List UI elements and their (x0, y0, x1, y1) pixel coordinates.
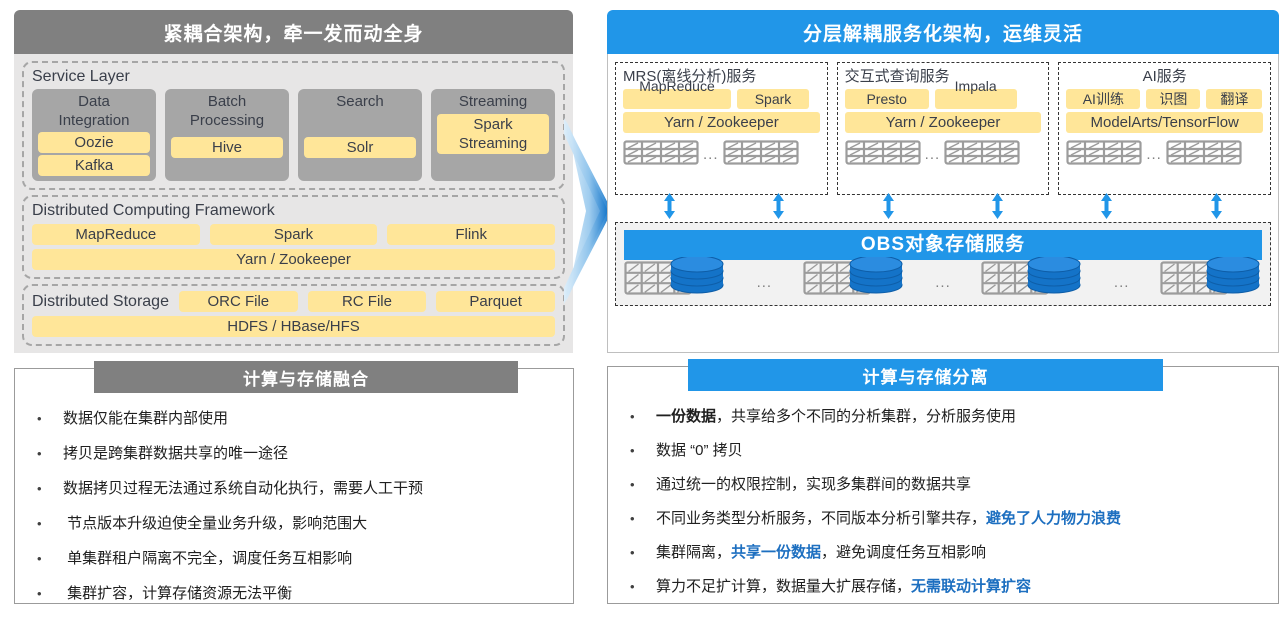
component-spark-streaming[interactable]: SparkStreaming (437, 114, 549, 154)
storage-node (981, 257, 1083, 300)
list-item: • 数据 “0” 拷贝 (630, 443, 1278, 459)
component-rc-file[interactable]: RC File (308, 291, 427, 312)
service-layer-label: Service Layer (32, 67, 555, 87)
legacy-architecture-body: Service Layer DataIntegration Oozie Kafk… (14, 54, 573, 353)
service-box-title: DataIntegration (38, 92, 150, 130)
component-yarn-zookeeper[interactable]: Yarn / Zookeeper (32, 249, 555, 270)
list-item: • 集群隔离，共享一份数据，避免调度任务互相影响 (630, 545, 1278, 561)
component-yarn-zookeeper[interactable]: Yarn / Zookeeper (845, 112, 1042, 133)
list-item: •拷贝是跨集群数据共享的唯一途径 (37, 446, 573, 462)
list-item: • 单集群租户隔离不完全，调度任务互相影响 (37, 551, 573, 567)
new-callout-title: 计算与存储分离 (688, 359, 1163, 391)
legacy-bullet-list: •数据仅能在集群内部使用 •拷贝是跨集群数据共享的唯一途径 •数据拷贝过程无法通… (15, 369, 573, 621)
double-arrow-icon (991, 193, 1004, 224)
component-image-recognition[interactable]: 识图 (1146, 89, 1200, 109)
service-box-title: BatchProcessing (171, 92, 283, 130)
list-item: • 集群扩容，计算存储资源无法平衡 (37, 586, 573, 602)
legacy-architecture-title: 紧耦合架构，牵一发而动全身 (14, 10, 573, 54)
storage-ellipsis: ... (905, 278, 982, 300)
double-arrow-icon (663, 193, 676, 224)
rack-row: ... (623, 140, 820, 170)
server-rack-icon (723, 140, 799, 170)
legacy-architecture-panel: 紧耦合架构，牵一发而动全身 Service Layer DataIntegrat… (14, 10, 573, 353)
database-icon (1204, 257, 1262, 300)
rack-ellipsis: ... (925, 150, 941, 160)
service-box-title: Search (304, 92, 416, 111)
storage-ellipsis: ... (1083, 278, 1160, 300)
service-layer-boxes: DataIntegration Oozie Kafka BatchProcess… (32, 89, 555, 181)
component-spark[interactable]: Spark (210, 224, 378, 245)
compute-layer-group: Distributed Computing Framework MapReduc… (22, 195, 565, 279)
bullet-dot: • (37, 516, 63, 532)
engine-row: AI训练 识图 翻译 (1066, 89, 1263, 109)
new-bullet-list: • 一份数据，共享给多个不同的分析集群，分析服务使用 • 数据 “0” 拷贝 •… (608, 367, 1278, 613)
list-item: • 一份数据，共享给多个不同的分析集群，分析服务使用 (630, 409, 1278, 425)
new-architecture-title: 分层解耦服务化架构，运维灵活 (607, 10, 1279, 54)
bullet-dot: • (630, 443, 656, 459)
server-rack-icon (623, 140, 699, 170)
component-impala[interactable]: Impala (935, 89, 1017, 109)
rack-ellipsis: ... (1146, 150, 1162, 160)
component-mapreduce[interactable]: MapReduce (623, 89, 731, 109)
service-layer-group: Service Layer DataIntegration Oozie Kafk… (22, 61, 565, 190)
callout-frame: 计算与存储分离 • 一份数据，共享给多个不同的分析集群，分析服务使用 • 数据 … (607, 366, 1279, 604)
server-rack-icon (845, 140, 921, 170)
double-arrow-icon (1100, 193, 1113, 224)
service-cards: MRS(离线分析)服务 MapReduce Spark Yarn / Zooke… (615, 62, 1271, 195)
component-solr[interactable]: Solr (304, 137, 416, 158)
storage-ellipsis: ... (726, 278, 803, 300)
bidirectional-arrows-band (615, 195, 1271, 221)
new-architecture-body: MRS(离线分析)服务 MapReduce Spark Yarn / Zooke… (607, 54, 1279, 353)
callout-frame: 计算与存储融合 •数据仅能在集群内部使用 •拷贝是跨集群数据共享的唯一途径 •数… (14, 368, 574, 604)
component-mapreduce[interactable]: MapReduce (32, 224, 200, 245)
storage-layer-label: Distributed Storage (32, 292, 169, 312)
engine-row: MapReduce Spark (623, 89, 820, 109)
double-arrow-icon (882, 193, 895, 224)
component-kafka[interactable]: Kafka (38, 155, 150, 176)
obs-service-bar[interactable]: OBS对象存储服务 (624, 230, 1262, 260)
component-parquet[interactable]: Parquet (436, 291, 555, 312)
component-translation[interactable]: 翻译 (1206, 89, 1262, 109)
component-yarn-zookeeper[interactable]: Yarn / Zookeeper (623, 112, 820, 133)
double-arrow-icon (1210, 193, 1223, 224)
component-presto[interactable]: Presto (845, 89, 929, 109)
obs-storage-nodes: ... (624, 262, 1262, 300)
component-orc-file[interactable]: ORC File (179, 291, 298, 312)
storage-format-row: Distributed Storage ORC File RC File Par… (32, 291, 555, 312)
bullet-dot: • (630, 511, 656, 527)
storage-node (1160, 257, 1262, 300)
server-rack-icon (1066, 140, 1142, 170)
bullet-dot: • (630, 579, 656, 595)
rack-row: ... (845, 140, 1042, 170)
component-oozie[interactable]: Oozie (38, 132, 150, 153)
service-box-search[interactable]: Search Solr (298, 89, 422, 181)
service-box-streaming[interactable]: Streaming SparkStreaming (431, 89, 555, 181)
component-hive[interactable]: Hive (171, 137, 283, 158)
bullet-dot: • (37, 446, 63, 462)
list-item: • 节点版本升级迫使全量业务升级，影响范围大 (37, 516, 573, 532)
bullet-dot: • (37, 411, 63, 427)
bullet-dot: • (630, 409, 656, 425)
list-item: • 通过统一的权限控制，实现多集群间的数据共享 (630, 477, 1278, 493)
obs-storage-zone: OBS对象存储服务 (615, 222, 1271, 306)
bullet-dot: • (630, 477, 656, 493)
bullet-dot: • (630, 545, 656, 561)
component-hdfs-hbase-hfs[interactable]: HDFS / HBase/HFS (32, 316, 555, 337)
arrow-slot (834, 195, 943, 221)
service-card-title: AI服务 (1066, 67, 1263, 87)
bullet-dot: • (37, 481, 63, 497)
database-icon (668, 257, 726, 300)
service-box-batch-processing[interactable]: BatchProcessing Hive (165, 89, 289, 181)
list-item: •数据仅能在集群内部使用 (37, 411, 573, 427)
list-item: •数据拷贝过程无法通过系统自动化执行，需要人工干预 (37, 481, 573, 497)
engine-row: Presto Impala (845, 89, 1042, 109)
legacy-drawbacks-callout: 计算与存储融合 •数据仅能在集群内部使用 •拷贝是跨集群数据共享的唯一途径 •数… (14, 368, 574, 604)
compute-layer-label: Distributed Computing Framework (32, 201, 555, 221)
legacy-callout-title: 计算与存储融合 (94, 361, 518, 393)
component-modelarts-tensorflow[interactable]: ModelArts/TensorFlow (1066, 112, 1263, 133)
service-card-ai[interactable]: AI服务 AI训练 识图 翻译 ModelArts/TensorFlow (1058, 62, 1271, 195)
rack-row: ... (1066, 140, 1263, 170)
bullet-dot: • (37, 586, 63, 602)
arrow-slot (615, 195, 724, 221)
storage-node (803, 257, 905, 300)
storage-node (624, 257, 726, 300)
component-ai-training[interactable]: AI训练 (1066, 89, 1140, 109)
double-arrow-icon (772, 193, 785, 224)
storage-layer-group: Distributed Storage ORC File RC File Par… (22, 284, 565, 346)
rack-ellipsis: ... (703, 150, 719, 160)
server-rack-icon (944, 140, 1020, 170)
new-benefits-callout: 计算与存储分离 • 一份数据，共享给多个不同的分析集群，分析服务使用 • 数据 … (607, 366, 1279, 604)
component-flink[interactable]: Flink (387, 224, 555, 245)
arrow-slot (1162, 195, 1271, 221)
list-item: • 不同业务类型分析服务，不同版本分析引擎共存，避免了人力物力浪费 (630, 511, 1278, 527)
list-item: • 算力不足扩计算，数据量大扩展存储，无需联动计算扩容 (630, 579, 1278, 595)
component-spark[interactable]: Spark (737, 89, 809, 109)
arrow-slot (943, 195, 1052, 221)
compute-engine-row: MapReduce Spark Flink (32, 224, 555, 245)
arrow-slot (1052, 195, 1161, 221)
service-box-title: Streaming (437, 92, 549, 111)
service-box-data-integration[interactable]: DataIntegration Oozie Kafka (32, 89, 156, 181)
new-architecture-panel: 分层解耦服务化架构，运维灵活 MRS(离线分析)服务 MapReduce Spa… (607, 10, 1279, 353)
arrow-slot (724, 195, 833, 221)
bullet-dot: • (37, 551, 63, 567)
database-icon (847, 257, 905, 300)
service-card-interactive-query[interactable]: 交互式查询服务 Presto Impala Yarn / Zookeeper (837, 62, 1050, 195)
service-card-mrs[interactable]: MRS(离线分析)服务 MapReduce Spark Yarn / Zooke… (615, 62, 828, 195)
database-icon (1025, 257, 1083, 300)
server-rack-icon (1166, 140, 1242, 170)
